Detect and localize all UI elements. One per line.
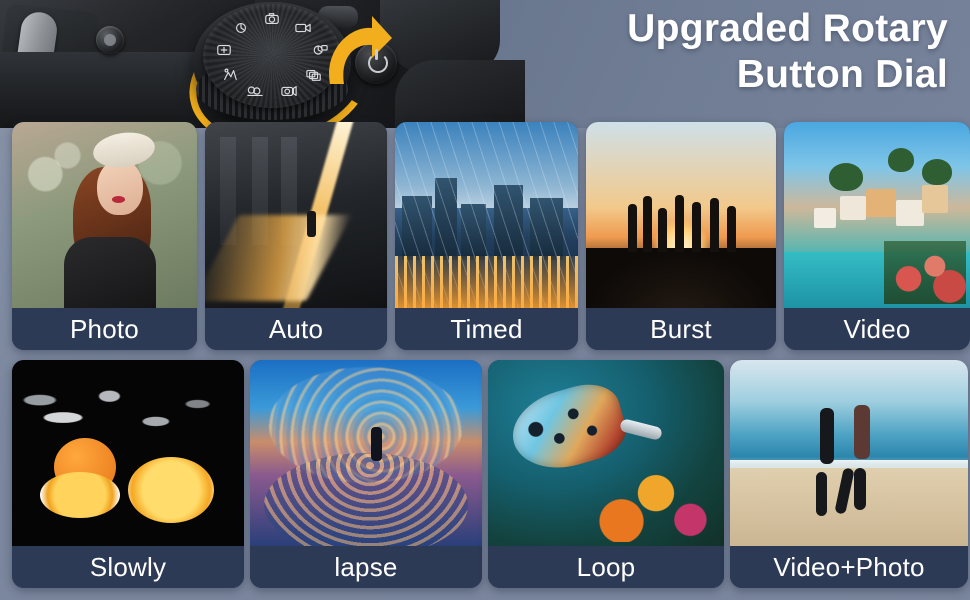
header-banner: Upgraded Rotary Button Dial bbox=[0, 0, 970, 128]
mode-card-photo[interactable]: Photo bbox=[12, 122, 197, 350]
mode-label: Video+Photo bbox=[730, 546, 968, 588]
mode-thumbnail-slowly bbox=[12, 360, 244, 546]
mode-dial-face[interactable] bbox=[203, 4, 341, 108]
dial-mode-icon-9 bbox=[231, 20, 251, 36]
mode-card-row-1: Photo Auto Timed bbox=[12, 122, 970, 350]
mode-card-timed[interactable]: Timed bbox=[395, 122, 578, 350]
dial-mode-icon-1 bbox=[262, 11, 282, 27]
mode-label: Slowly bbox=[12, 546, 244, 588]
mode-card-loop[interactable]: Loop bbox=[488, 360, 724, 588]
mode-label: lapse bbox=[250, 546, 482, 588]
mode-thumbnail-timed bbox=[395, 122, 578, 308]
page-title: Upgraded Rotary Button Dial bbox=[428, 6, 948, 98]
dial-mode-icon-2 bbox=[293, 20, 313, 36]
mode-thumbnail-loop bbox=[488, 360, 724, 546]
mode-label: Loop bbox=[488, 546, 724, 588]
mode-label: Timed bbox=[395, 308, 578, 350]
mode-thumbnail-lapse bbox=[250, 360, 482, 546]
mode-label: Burst bbox=[586, 308, 776, 350]
mode-card-slowly[interactable]: Slowly bbox=[12, 360, 244, 588]
mode-thumbnail-video-photo bbox=[730, 360, 968, 546]
camera-function-button bbox=[96, 26, 124, 54]
mode-card-row-2: Slowly lapse Loop bbox=[12, 360, 968, 588]
mode-card-video[interactable]: Video bbox=[784, 122, 970, 350]
mode-card-auto[interactable]: Auto bbox=[205, 122, 387, 350]
dial-mode-icon-6 bbox=[245, 83, 265, 99]
rotation-arrow-icon bbox=[322, 12, 394, 88]
headline-line-2: Button Dial bbox=[428, 52, 948, 98]
mode-thumbnail-video bbox=[784, 122, 970, 308]
dial-mode-icon-5 bbox=[279, 83, 299, 99]
mode-card-burst[interactable]: Burst bbox=[586, 122, 776, 350]
mode-thumbnail-auto bbox=[205, 122, 387, 308]
mode-label: Photo bbox=[12, 308, 197, 350]
dial-mode-icon-8 bbox=[214, 42, 234, 58]
mode-label: Video bbox=[784, 308, 970, 350]
headline-line-1: Upgraded Rotary bbox=[428, 6, 948, 52]
mode-thumbnail-photo bbox=[12, 122, 197, 308]
mode-thumbnail-burst bbox=[586, 122, 776, 308]
mode-card-video-photo[interactable]: Video+Photo bbox=[730, 360, 968, 588]
mode-label: Auto bbox=[205, 308, 387, 350]
dial-mode-icon-7 bbox=[220, 67, 240, 83]
product-feature-banner: Upgraded Rotary Button Dial Photo Auto bbox=[0, 0, 970, 600]
mode-card-lapse[interactable]: lapse bbox=[250, 360, 482, 588]
